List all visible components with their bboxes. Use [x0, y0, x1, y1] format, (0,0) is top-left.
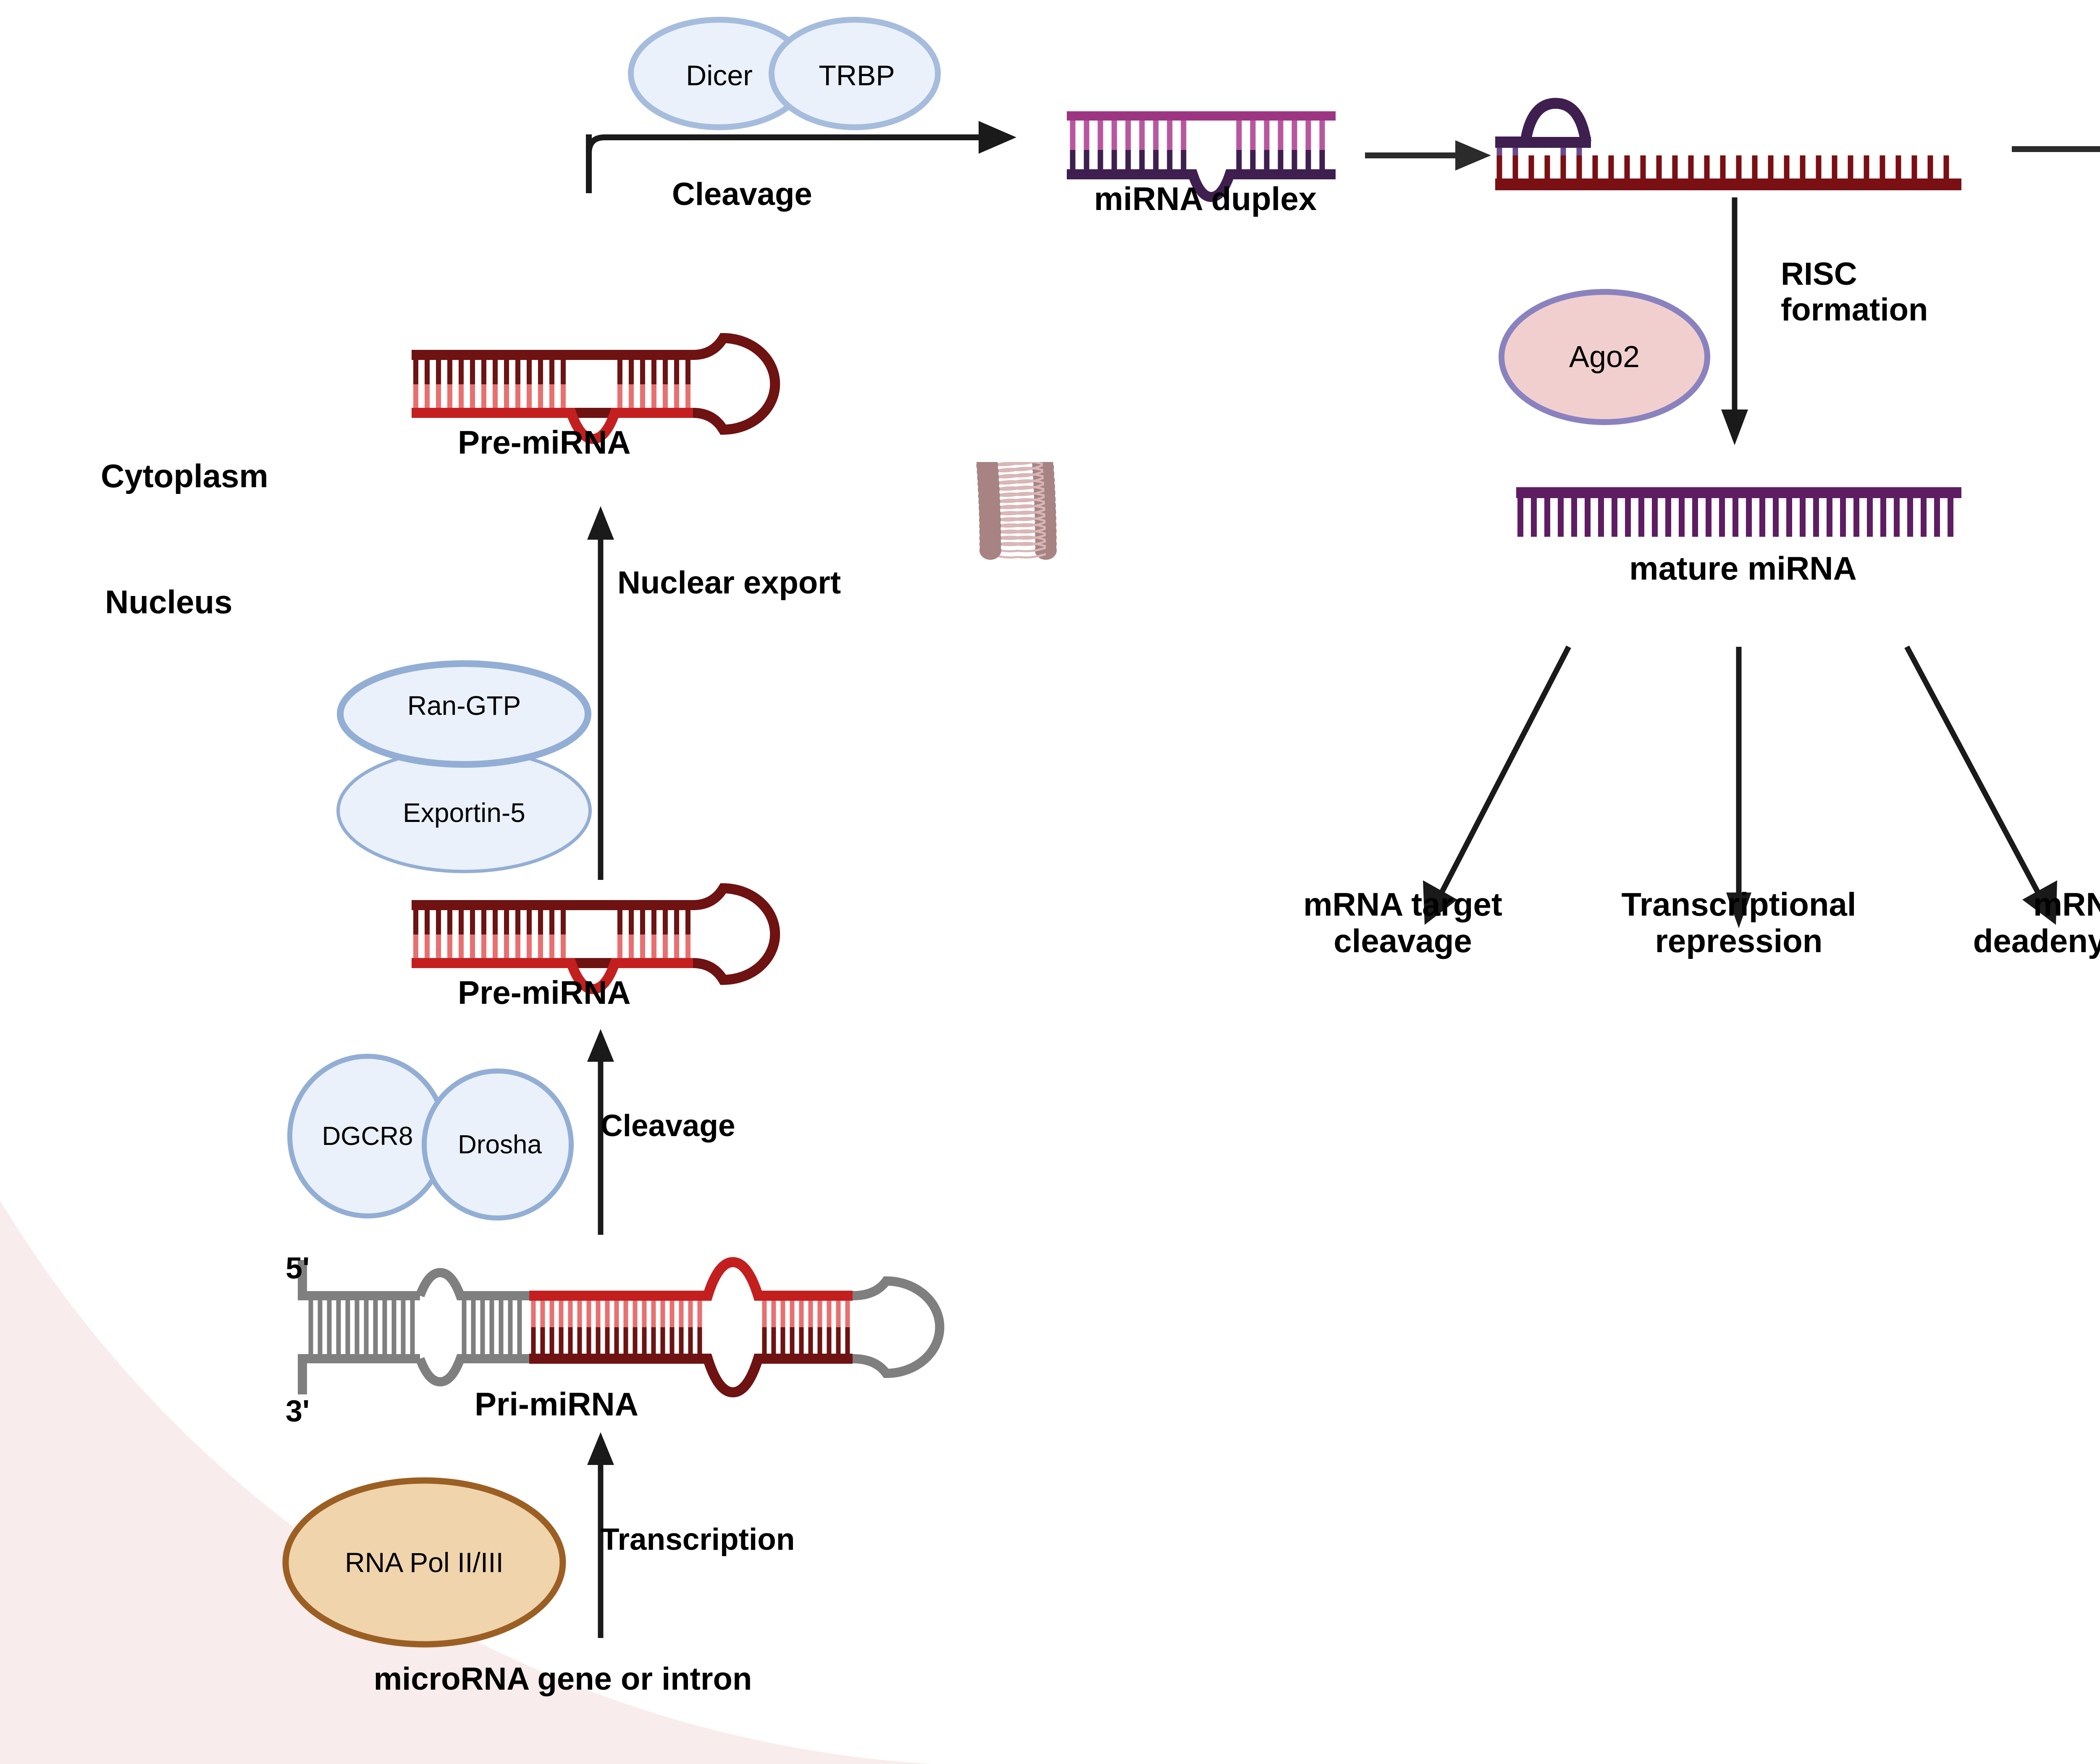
dicer-arrow-stem [580, 134, 596, 193]
cytoplasm-label: Cytoplasm [101, 458, 268, 494]
dicer-trbp-complex[interactable] [626, 15, 945, 136]
three-prime-label: 3' [286, 1394, 310, 1428]
five-prime-label: 5' [286, 1252, 310, 1286]
mrna-target-cleavage-label: mRNA target cleavage [1252, 886, 1554, 960]
risc-formation-arrow [1701, 197, 1768, 449]
pri-mirna-structure [294, 1256, 966, 1399]
mature-mirna-structure [1516, 487, 1966, 546]
rna-pol-ellipse[interactable] [277, 1474, 571, 1651]
pre-mirna-nucleus-label: Pre-miRNA [458, 974, 631, 1011]
nuclear-export-label: Nuclear export [617, 565, 841, 601]
dgcr8-drosha-complex[interactable] [269, 1054, 617, 1218]
duplex-to-risc-arrow [1365, 139, 1495, 172]
transcription-label: Transcription [601, 1522, 795, 1557]
mirna-duplex-label: miRNA duplex [1063, 181, 1348, 217]
cytoplasm-cleavage-label: Cleavage [672, 176, 812, 212]
nucleus-label: Nucleus [105, 584, 232, 620]
outcome-left-arrow [1394, 643, 1583, 928]
microrna-gene-label: microRNA gene or intron [311, 1661, 815, 1697]
pre-mirna-cytoplasm-label: Pre-miRNA [458, 424, 631, 461]
degradation-arrow [2012, 132, 2100, 166]
mature-mirna-label: mature miRNA [1554, 550, 1932, 587]
nuclear-export-arrow [559, 502, 643, 880]
outcome-right-arrow [1894, 643, 2092, 928]
mrna-deadenylation-label: mRNA deadenylation [1928, 886, 2100, 960]
mirna-pathway-diagram: Cytoplasm Nucleus Transcription RNA Pol … [0, 0, 2100, 1764]
risc-complex-structure [1495, 97, 1970, 202]
nuclear-cleavage-label: Cleavage [601, 1109, 735, 1143]
ago2-ellipse[interactable] [1495, 286, 1714, 428]
risc-formation-label: RISC formation [1781, 256, 1928, 328]
pri-mirna-label: Pri-miRNA [475, 1386, 638, 1423]
transcriptional-repression-label: Transcriptional repression [1579, 886, 1898, 960]
